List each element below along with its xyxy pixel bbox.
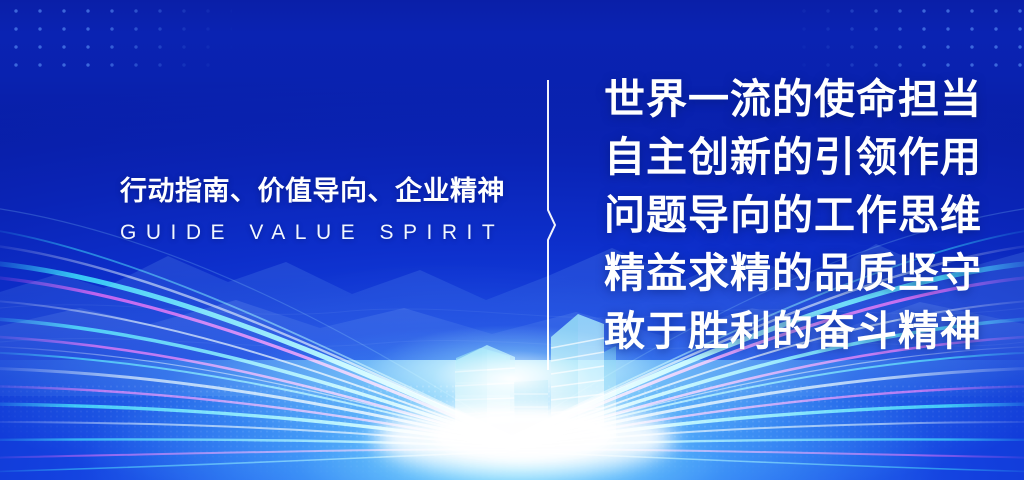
slogan-line-2: 自主创新的引领作用	[604, 128, 964, 186]
slogan-line-3: 问题导向的工作思维	[604, 186, 964, 244]
culture-banner: 行动指南、价值导向、企业精神 GUIDE VALUE SPIRIT 世界一流的使…	[0, 0, 1024, 480]
slogan-line-5: 敢于胜利的奋斗精神	[604, 302, 964, 360]
right-slogan-list: 世界一流的使命担当 自主创新的引领作用 问题导向的工作思维 精益求精的品质坚守 …	[604, 70, 964, 360]
banner-content: 行动指南、价值导向、企业精神 GUIDE VALUE SPIRIT 世界一流的使…	[0, 0, 1024, 480]
left-title: 行动指南、价值导向、企业精神	[120, 176, 500, 208]
slogan-line-1: 世界一流的使命担当	[604, 70, 964, 128]
left-text-block: 行动指南、价值导向、企业精神 GUIDE VALUE SPIRIT	[120, 176, 500, 245]
left-subtitle: GUIDE VALUE SPIRIT	[120, 221, 500, 245]
vertical-divider-with-chevron-icon	[543, 80, 561, 370]
slogan-line-4: 精益求精的品质坚守	[604, 244, 964, 302]
